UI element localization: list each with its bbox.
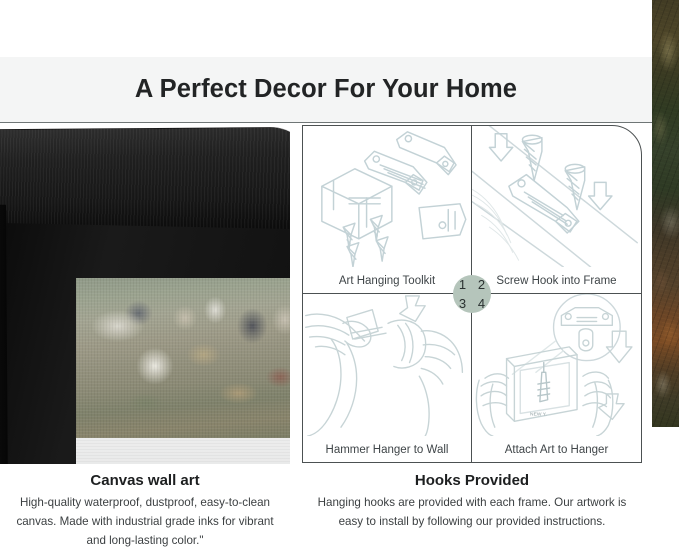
step-cell-4: NEW Y. bbox=[472, 294, 641, 462]
svg-text:NEW Y.: NEW Y. bbox=[530, 411, 547, 417]
badge-number-1: 1 bbox=[453, 275, 472, 294]
framed-canvas-product-photo bbox=[0, 124, 290, 464]
canvas-artwork bbox=[76, 278, 290, 438]
hand-hammer-hanger-icon bbox=[303, 294, 471, 436]
frame-top-bevel bbox=[0, 127, 290, 229]
top-spacer bbox=[0, 0, 652, 57]
blurb-hooks-provided: Hooks Provided Hanging hooks are provide… bbox=[302, 464, 642, 553]
hands-holding-art-icon: NEW Y. bbox=[472, 294, 641, 436]
blurb-body: High-quality waterproof, dustproof, easy… bbox=[10, 494, 280, 550]
step-label-2: Screw Hook into Frame bbox=[472, 275, 641, 287]
blurb-canvas-wall-art: Canvas wall art High-quality waterproof,… bbox=[0, 464, 290, 553]
frame-assembly bbox=[0, 130, 290, 464]
toolkit-box-screws-icon bbox=[303, 126, 471, 267]
hanging-instructions-card: Art Hanging Toolkit bbox=[302, 125, 642, 463]
step-label-4: Attach Art to Hanger bbox=[472, 444, 641, 456]
header-band: A Perfect Decor For Your Home bbox=[0, 57, 652, 123]
blurb-heading: Canvas wall art bbox=[10, 472, 280, 489]
product-detail-image: A Perfect Decor For Your Home bbox=[0, 0, 679, 553]
blurb-heading: Hooks Provided bbox=[312, 472, 632, 489]
badge-number-2: 2 bbox=[472, 275, 491, 294]
blurb-body: Hanging hooks are provided with each fra… bbox=[312, 494, 632, 532]
canvas-lower-mat bbox=[76, 438, 290, 464]
screw-hook-plate-icon bbox=[472, 126, 641, 267]
badge-number-4: 4 bbox=[472, 294, 491, 313]
step-label-1: Art Hanging Toolkit bbox=[303, 275, 471, 287]
step-label-3: Hammer Hanger to Wall bbox=[303, 444, 471, 456]
step-cell-3: Hammer Hanger to Wall bbox=[303, 294, 472, 462]
step-number-badge: 1 2 3 4 bbox=[453, 275, 491, 313]
page-title: A Perfect Decor For Your Home bbox=[135, 75, 517, 104]
badge-number-3: 3 bbox=[453, 294, 472, 313]
step-cell-2: Screw Hook into Frame bbox=[472, 126, 641, 294]
step-cell-1: Art Hanging Toolkit bbox=[303, 126, 472, 294]
landscape-artwork-thumbnail-strip bbox=[652, 0, 679, 427]
